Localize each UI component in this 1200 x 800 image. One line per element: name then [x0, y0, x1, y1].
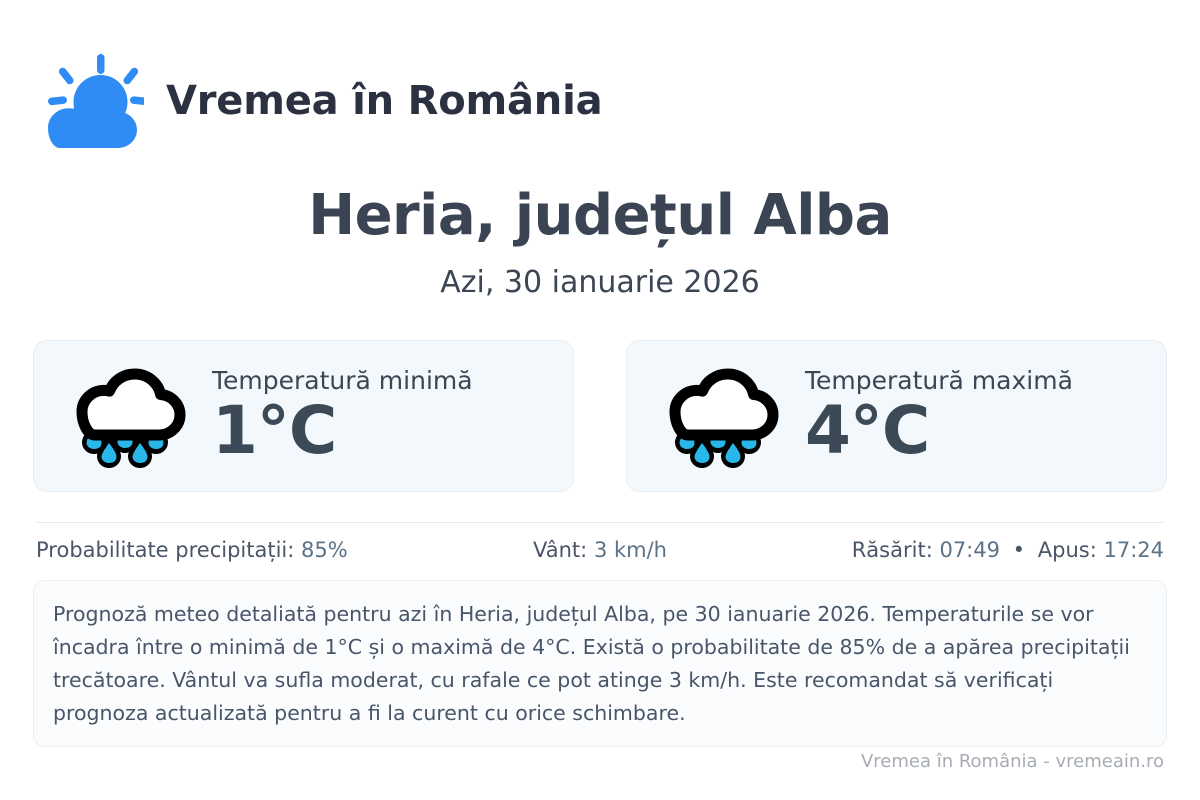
wind-value: 3 km/h [594, 538, 667, 562]
max-temperature-card: Temperatură maximă 4°C [626, 340, 1167, 492]
sun-behind-cloud-icon [36, 52, 144, 152]
page-title: Heria, județul Alba [0, 183, 1200, 248]
temperature-cards: Temperatură minimă 1°C [33, 340, 1167, 492]
wind-stat: Vânt: 3 km/h [412, 538, 788, 562]
stats-divider [36, 522, 1164, 523]
weather-page: Vremea în România Heria, județul Alba Az… [0, 0, 1200, 800]
site-footer: Vremea în România - vremeain.ro [861, 751, 1164, 772]
brand-name: Vremea în România [166, 80, 602, 123]
sunset-label: Apus: [1038, 538, 1097, 562]
weather-stats: Probabilitate precipitații: 85% Vânt: 3 … [36, 538, 1164, 562]
precipitation-label: Probabilitate precipitații: [36, 538, 294, 562]
sunrise-value: 07:49 [939, 538, 1000, 562]
min-temperature-label: Temperatură minimă [212, 367, 473, 395]
forecast-description: Prognoză meteo detaliată pentru azi în H… [33, 580, 1167, 747]
sunrise-label: Răsărit: [852, 538, 933, 562]
min-temperature-value: 1°C [212, 396, 473, 465]
precipitation-stat: Probabilitate precipitații: 85% [36, 538, 412, 562]
wind-label: Vânt: [533, 538, 587, 562]
min-temperature-card: Temperatură minimă 1°C [33, 340, 574, 492]
precipitation-value: 85% [301, 538, 348, 562]
rain-cloud-icon [68, 364, 186, 468]
max-temperature-label: Temperatură maximă [805, 367, 1073, 395]
site-header[interactable]: Vremea în România [36, 52, 602, 152]
sunset-value: 17:24 [1103, 538, 1164, 562]
stat-separator: • [1007, 538, 1031, 562]
page-subtitle: Azi, 30 ianuarie 2026 [0, 265, 1200, 300]
rain-cloud-icon [661, 364, 779, 468]
max-temperature-value: 4°C [805, 396, 929, 465]
sun-times-stat: Răsărit: 07:49 • Apus: 17:24 [788, 538, 1164, 562]
